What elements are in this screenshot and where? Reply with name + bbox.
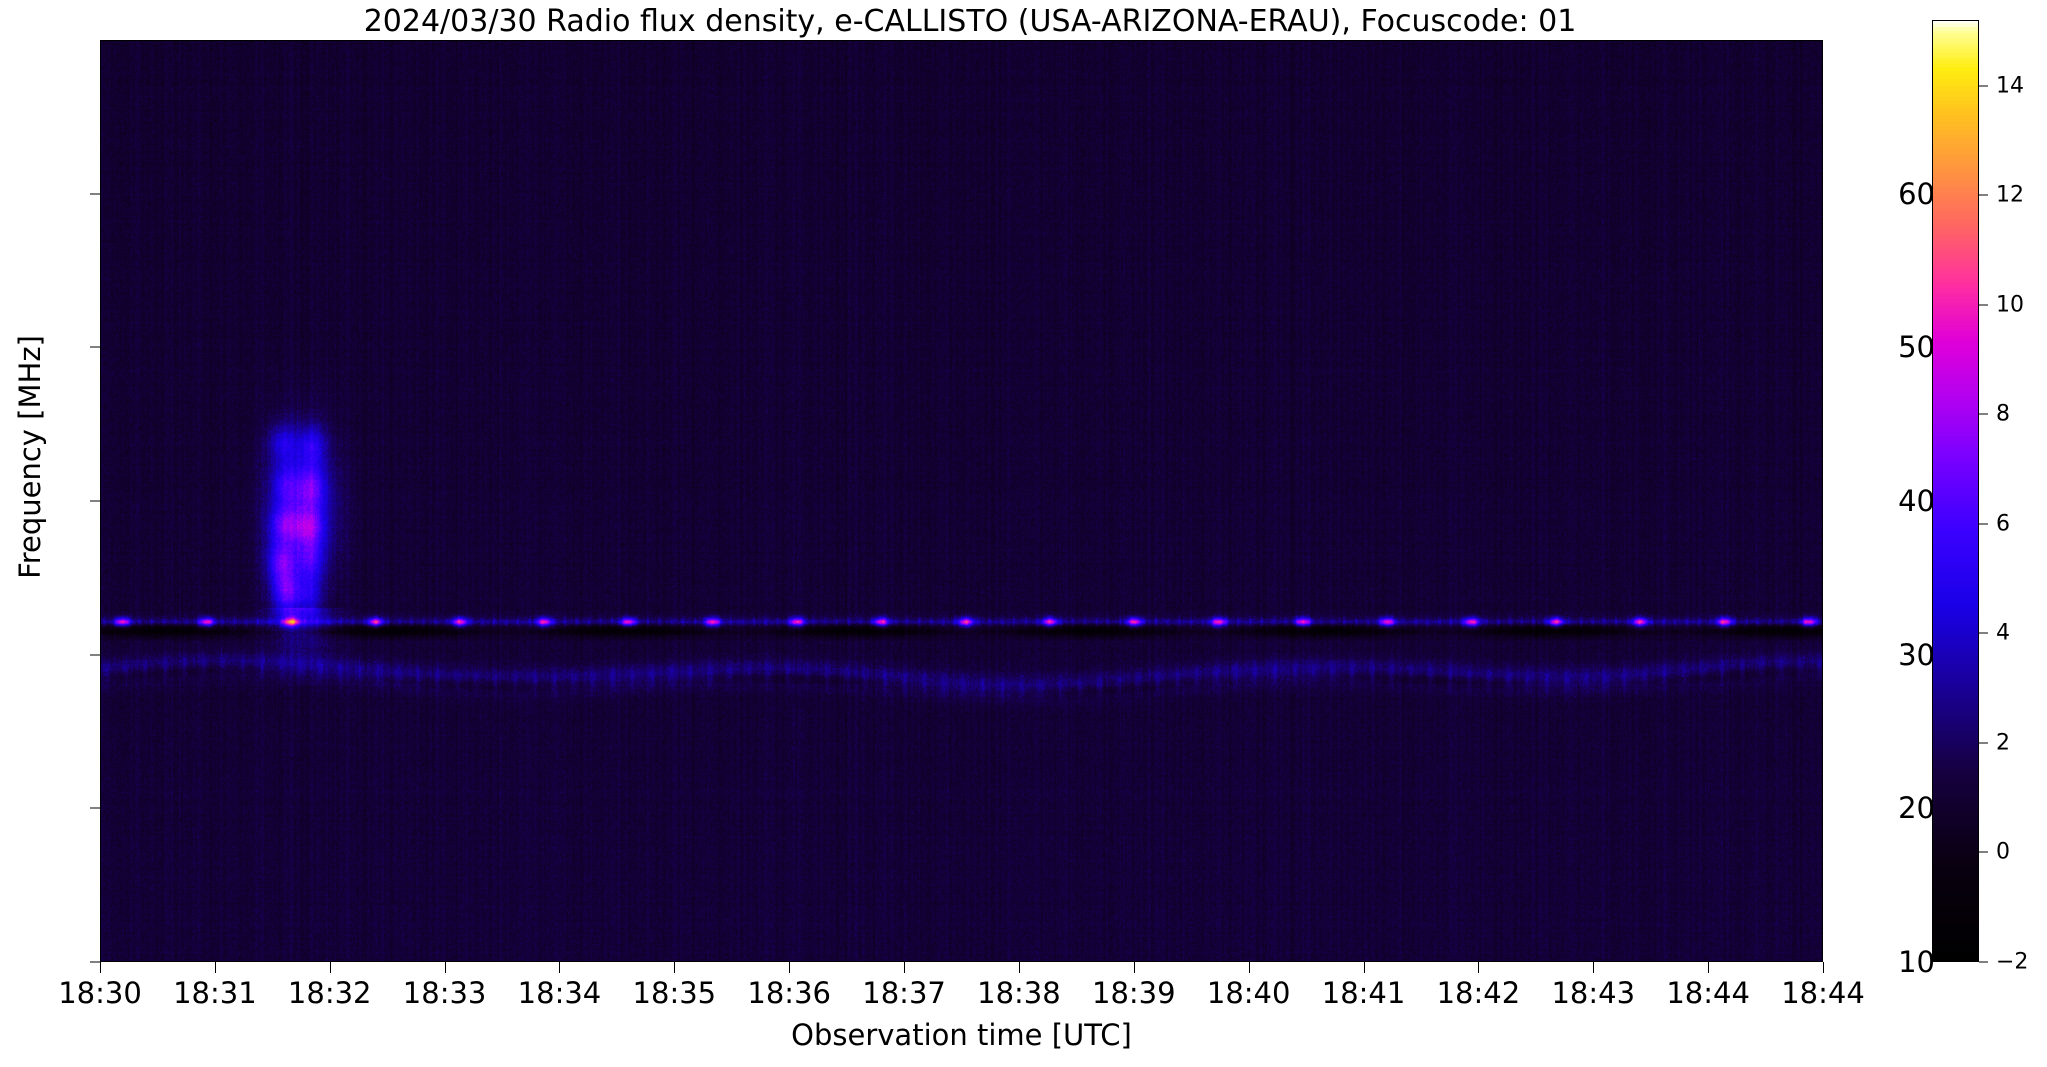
y-axis-label: Frequency [MHz] — [13, 137, 47, 777]
y-tick-label: 50 — [1898, 330, 1935, 364]
colorbar-tick-label: −2 — [1996, 950, 2028, 975]
x-tick-mark — [1019, 962, 1020, 973]
y-tick-mark — [90, 654, 101, 655]
colorbar-tick-label: 2 — [1996, 730, 2010, 755]
colorbar-tick-label: 0 — [1996, 840, 2010, 865]
page-title: 2024/03/30 Radio flux density, e-CALLIST… — [100, 4, 1840, 39]
x-tick-label: 18:38 — [977, 976, 1061, 1010]
y-tick-mark — [90, 347, 101, 348]
y-tick-label: 10 — [1898, 945, 1935, 979]
x-tick-mark — [330, 962, 331, 973]
y-tick-mark — [90, 808, 101, 809]
colorbar-tick-mark — [1979, 85, 1988, 86]
spectrogram-image[interactable] — [101, 41, 1822, 961]
x-tick-label: 18:44 — [1666, 976, 1750, 1010]
x-tick-mark — [1478, 962, 1479, 973]
colorbar-tick-label: 12 — [1996, 183, 2024, 208]
x-tick-mark — [1364, 962, 1365, 973]
x-tick-label: 18:39 — [1092, 976, 1176, 1010]
y-tick-label: 30 — [1898, 638, 1935, 672]
colorbar-gradient — [1933, 21, 1978, 961]
x-tick-mark — [674, 962, 675, 973]
y-tick-label: 40 — [1898, 484, 1935, 518]
spectrogram-axes[interactable] — [100, 40, 1823, 962]
x-tick-label: 18:30 — [58, 976, 142, 1010]
x-tick-label: 18:33 — [403, 976, 487, 1010]
x-tick-mark — [215, 962, 216, 973]
x-tick-label: 18:44 — [1781, 976, 1865, 1010]
colorbar-tick-mark — [1979, 195, 1988, 196]
x-tick-label: 18:43 — [1551, 976, 1635, 1010]
colorbar-tick-mark — [1979, 633, 1988, 634]
colorbar-tick-mark — [1979, 742, 1988, 743]
x-tick-label: 18:36 — [747, 976, 831, 1010]
colorbar-tick-mark — [1979, 414, 1988, 415]
y-tick-label: 20 — [1898, 791, 1935, 825]
x-tick-mark — [1823, 962, 1824, 973]
x-tick-label: 18:31 — [173, 976, 257, 1010]
spectrogram-figure: 2024/03/30 Radio flux density, e-CALLIST… — [0, 0, 2047, 1067]
colorbar-tick-mark — [1979, 304, 1988, 305]
x-tick-mark — [904, 962, 905, 973]
x-tick-mark — [100, 962, 101, 973]
x-tick-label: 18:35 — [633, 976, 717, 1010]
colorbar-tick-mark — [1979, 523, 1988, 524]
colorbar-tick-label: 4 — [1996, 621, 2010, 646]
y-tick-mark — [90, 501, 101, 502]
x-axis-label: Observation time [UTC] — [100, 1018, 1823, 1052]
colorbar-tick-mark — [1979, 852, 1988, 853]
x-tick-label: 18:42 — [1437, 976, 1521, 1010]
x-tick-mark — [445, 962, 446, 973]
x-tick-mark — [1593, 962, 1594, 973]
y-tick-mark — [90, 193, 101, 194]
colorbar-tick-mark — [1979, 962, 1988, 963]
x-tick-label: 18:32 — [288, 976, 372, 1010]
colorbar-tick-label: 8 — [1996, 402, 2010, 427]
colorbar-tick-label: 14 — [1996, 73, 2024, 98]
x-tick-label: 18:37 — [862, 976, 946, 1010]
x-tick-label: 18:34 — [518, 976, 602, 1010]
colorbar-tick-label: 10 — [1996, 292, 2024, 317]
x-tick-mark — [789, 962, 790, 973]
x-tick-mark — [1249, 962, 1250, 973]
colorbar-axes[interactable] — [1932, 20, 1979, 962]
x-tick-label: 18:40 — [1207, 976, 1291, 1010]
x-tick-label: 18:41 — [1322, 976, 1406, 1010]
x-tick-mark — [559, 962, 560, 973]
x-tick-mark — [1708, 962, 1709, 973]
x-tick-mark — [1134, 962, 1135, 973]
colorbar-tick-label: 6 — [1996, 511, 2010, 536]
y-tick-label: 60 — [1898, 177, 1935, 211]
